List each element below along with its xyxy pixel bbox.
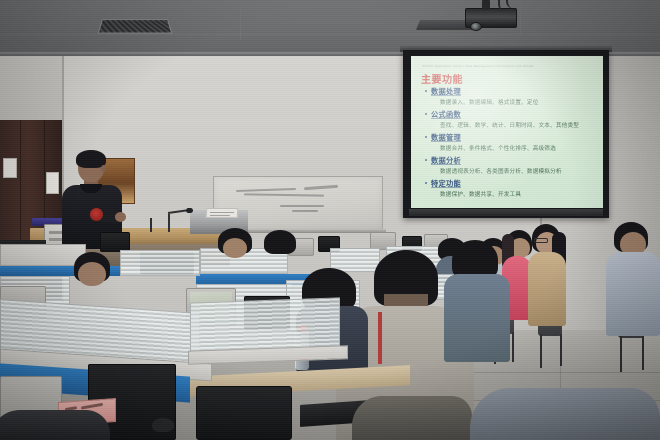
note-line — [210, 215, 230, 216]
monitor-back — [100, 232, 130, 252]
whiteboard-writing — [280, 205, 324, 207]
presenter-ear — [101, 165, 106, 172]
student-torso — [606, 252, 660, 336]
ceiling-seam — [0, 34, 660, 35]
presenter-shirt-logo — [90, 208, 103, 221]
presenter-hand — [115, 212, 126, 222]
student-torso — [444, 274, 510, 362]
student-head — [223, 238, 247, 258]
chair-leg — [642, 336, 644, 370]
student-torso — [0, 410, 110, 440]
ceiling-vent-icon — [98, 19, 173, 33]
projector-lens-icon — [470, 22, 482, 31]
seated-student — [0, 410, 110, 440]
seated-student — [262, 230, 300, 268]
slide-heading-3: 数据分析 — [431, 156, 599, 166]
classroom-photo-scene: XXXXX Application Group | Data Managemen… — [0, 0, 660, 440]
chair-leg — [512, 332, 514, 362]
chair-leg — [620, 336, 622, 372]
posted-notice-paper — [46, 172, 59, 194]
slide-body: 数据处理 数据录入、数据编辑、格式设置、定位 公式函数 查找、逻辑、数学、统计、… — [425, 87, 599, 202]
slide-detail-1: 查找、逻辑、数学、统计、日期时间、文本、其他类型 — [440, 121, 599, 129]
whiteboard-writing — [292, 210, 318, 212]
slide-detail-4: 数据保护、数据共享、开发工具 — [440, 190, 599, 198]
monitor-back — [196, 386, 292, 440]
seated-student — [528, 224, 568, 328]
note-line — [210, 212, 234, 213]
seated-student — [470, 388, 660, 440]
slide-detail-2: 数据合并、条件格式、个性化排序、高级筛选 — [440, 144, 599, 152]
slide-title: 主要功能 — [421, 71, 463, 86]
student-glasses-icon — [534, 238, 548, 243]
student-hair — [264, 230, 296, 254]
microphone-stand — [150, 218, 152, 232]
chair-leg — [540, 334, 542, 368]
student-head — [78, 262, 106, 286]
posted-notice-paper — [3, 158, 17, 178]
whiteboard-writing — [236, 188, 296, 192]
ceiling-seam — [240, 0, 241, 40]
microphone-icon — [186, 208, 193, 213]
screen-bottom-weight-bar — [409, 209, 603, 216]
seated-student — [444, 240, 512, 360]
student-lanyard — [378, 312, 382, 364]
slide-header-text: XXXXX Application Group | Data Managemen… — [422, 64, 534, 68]
projector-ceiling-mount — [482, 0, 490, 10]
slide-heading-1: 公式函数 — [431, 110, 599, 120]
slide-heading-4: 特定功能 — [431, 179, 599, 189]
card-writing — [81, 403, 103, 410]
cubicle-glass-partition — [120, 250, 200, 276]
chair-leg — [560, 334, 562, 366]
microphone-stand — [168, 214, 170, 232]
seated-student — [216, 228, 256, 268]
seated-student — [70, 252, 114, 296]
whiteboard-writing — [304, 185, 338, 190]
student-torso — [470, 388, 660, 440]
projection-screen: XXXXX Application Group | Data Managemen… — [403, 50, 609, 218]
seated-student — [606, 222, 660, 336]
upper-left-wall — [0, 56, 62, 122]
projected-slide: XXXXX Application Group | Data Managemen… — [411, 56, 603, 208]
mouse — [152, 418, 174, 432]
slide-detail-3: 数据透视表分析、各类图表分析、数据模拟分析 — [440, 167, 599, 175]
slide-detail-0: 数据录入、数据编辑、格式设置、定位 — [440, 98, 599, 106]
seated-student — [352, 396, 472, 440]
student-torso — [528, 252, 566, 326]
slide-heading-2: 数据管理 — [431, 133, 599, 143]
lecture-notes-paper — [206, 208, 239, 218]
whiteboard-writing — [244, 193, 324, 196]
ceiling-seam — [520, 0, 521, 34]
student-torso — [352, 396, 472, 440]
slide-heading-0: 数据处理 — [431, 87, 599, 97]
